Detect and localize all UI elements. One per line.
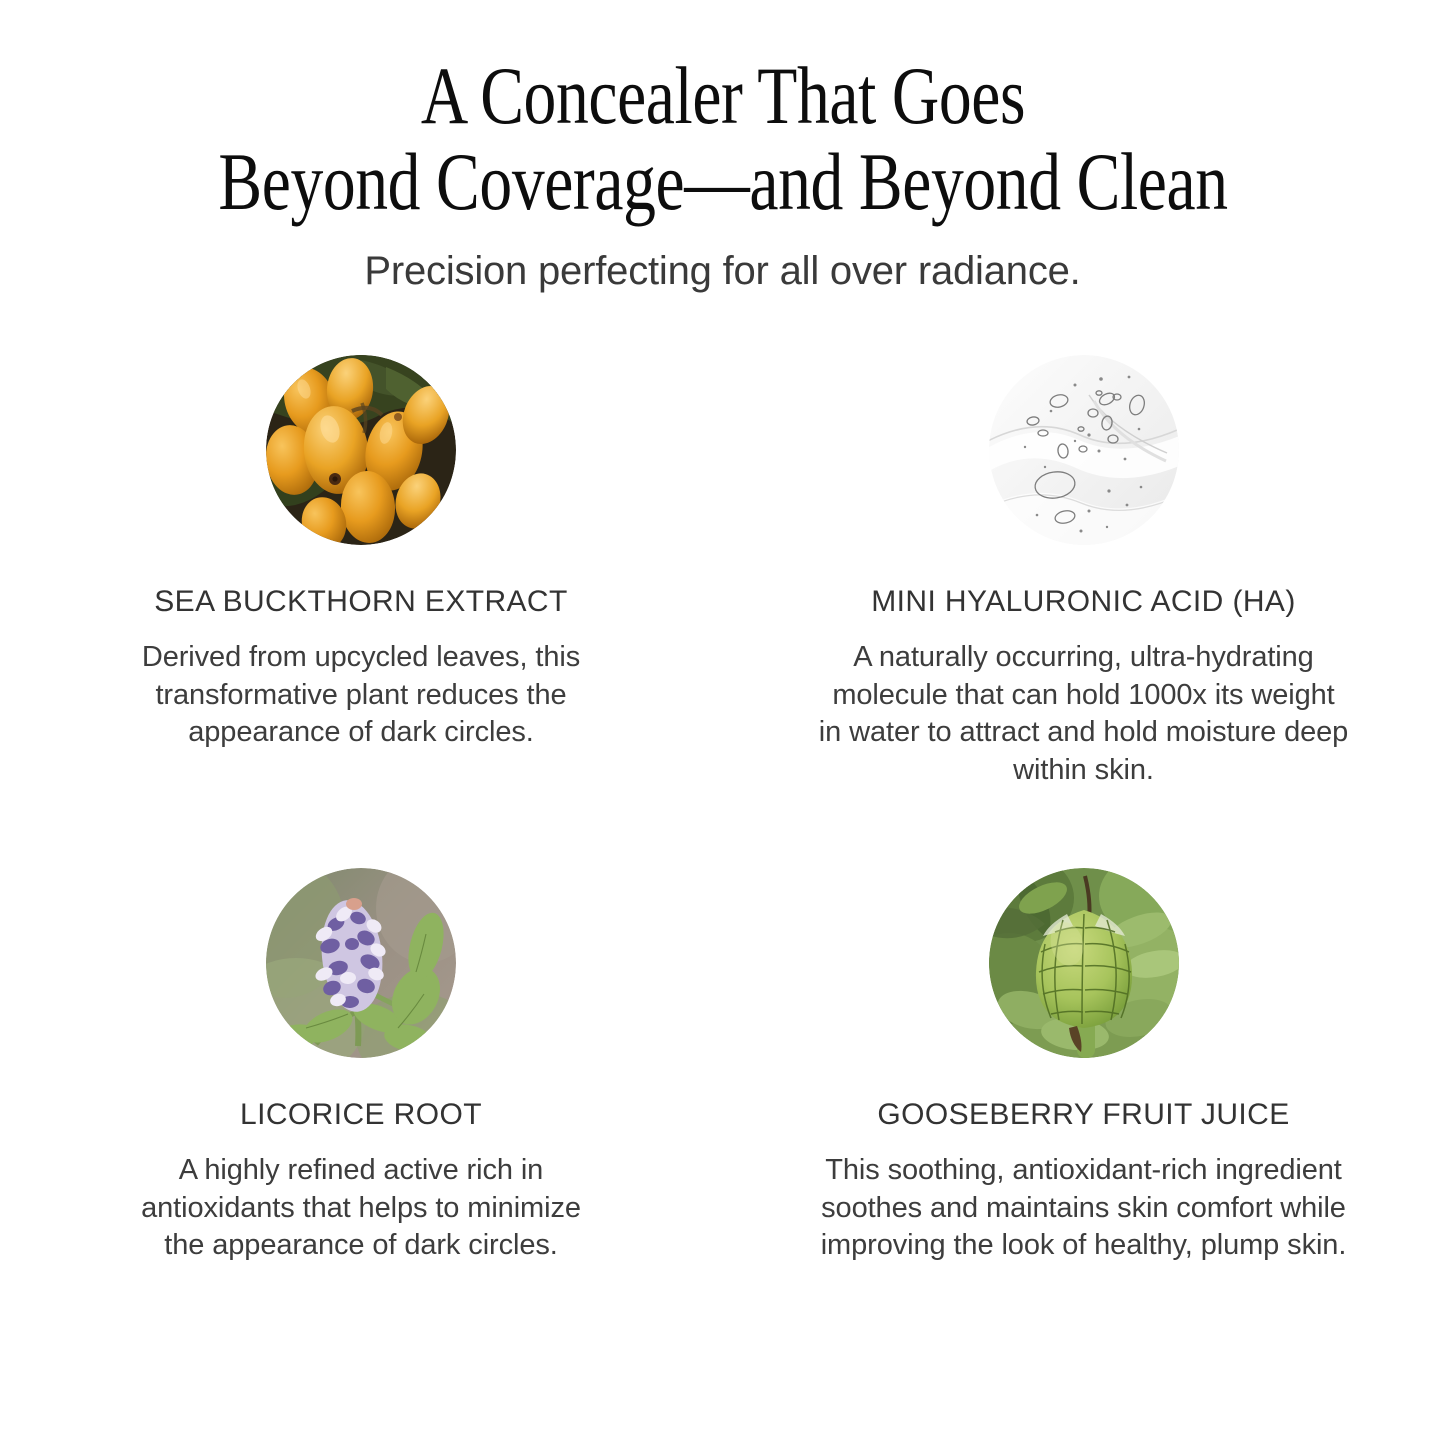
ingredient-title: MINI HYALURONIC ACID (HA)	[871, 587, 1295, 617]
header: A Concealer That Goes Beyond Coverage—an…	[0, 0, 1445, 294]
headline-line-1: A Concealer That Goes	[207, 54, 1239, 138]
ingredient-card-licorice-root: LICORICE ROOT A highly refined active ri…	[0, 868, 722, 1265]
gooseberry-fruit-photo	[989, 868, 1179, 1058]
headline-line-2: Beyond Coverage—and Beyond Clean	[207, 140, 1239, 224]
hyaluronic-acid-gel-texture-photo	[989, 355, 1179, 545]
ingredient-description: A naturally occurring, ultra-hydrating m…	[819, 639, 1349, 790]
ingredient-card-sea-buckthorn: SEA BUCKTHORN EXTRACT Derived from upcyc…	[0, 355, 722, 868]
ingredients-grid: SEA BUCKTHORN EXTRACT Derived from upcyc…	[0, 355, 1445, 1265]
ingredient-description: Derived from upcycled leaves, this trans…	[126, 639, 596, 752]
ingredient-card-gooseberry: GOOSEBERRY FRUIT JUICE This soothing, an…	[722, 868, 1445, 1265]
ingredient-title: SEA BUCKTHORN EXTRACT	[154, 587, 567, 617]
ingredient-description: This soothing, antioxidant-rich ingredie…	[819, 1152, 1349, 1265]
ingredient-title: GOOSEBERRY FRUIT JUICE	[877, 1100, 1289, 1130]
ingredient-benefits-infographic: A Concealer That Goes Beyond Coverage—an…	[0, 0, 1445, 1445]
page-title: A Concealer That Goes Beyond Coverage—an…	[78, 54, 1368, 223]
ingredient-title: LICORICE ROOT	[240, 1100, 482, 1130]
licorice-root-flower-photo	[266, 868, 456, 1058]
ingredient-description: A highly refined active rich in antioxid…	[126, 1152, 596, 1265]
ingredient-card-hyaluronic-acid: MINI HYALURONIC ACID (HA) A naturally oc…	[722, 355, 1445, 868]
sea-buckthorn-berries-photo	[266, 355, 456, 545]
subtitle: Precision perfecting for all over radian…	[0, 249, 1445, 294]
